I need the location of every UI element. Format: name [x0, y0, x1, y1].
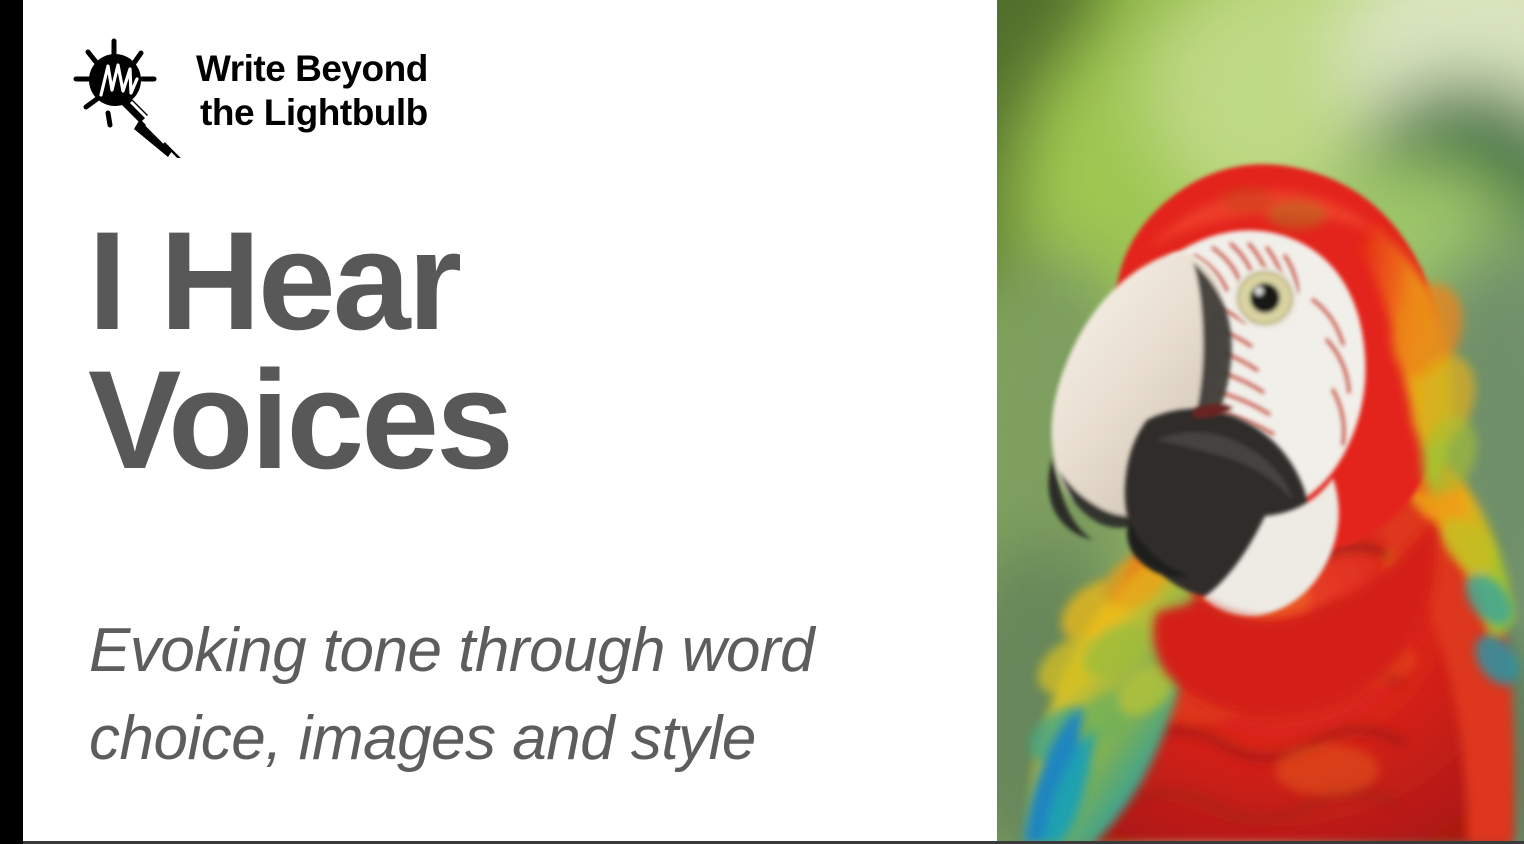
slide-title: I Hear Voices [88, 212, 968, 489]
text-column: Write Beyond the Lightbulb I Hear Voices… [23, 0, 997, 844]
presentation-slide: Write Beyond the Lightbulb I Hear Voices… [0, 0, 1524, 844]
slide-title-line-1: I Hear [88, 212, 968, 351]
brand-logo[interactable]: Write Beyond the Lightbulb [68, 33, 428, 158]
slide-subtitle: Evoking tone through word choice, images… [89, 607, 989, 783]
scarlet-macaw-photo [997, 0, 1524, 844]
lightbulb-pen-nib-icon [68, 33, 184, 158]
brand-logo-text: Write Beyond the Lightbulb [196, 33, 428, 134]
brand-logo-line-2: the Lightbulb [196, 91, 428, 135]
brand-logo-line-1: Write Beyond [196, 47, 428, 91]
slide-title-line-2: Voices [88, 351, 968, 490]
left-edge-bar [0, 0, 23, 844]
slide-subtitle-line-1: Evoking tone through word [89, 607, 989, 695]
slide-subtitle-line-2: choice, images and style [89, 695, 989, 783]
